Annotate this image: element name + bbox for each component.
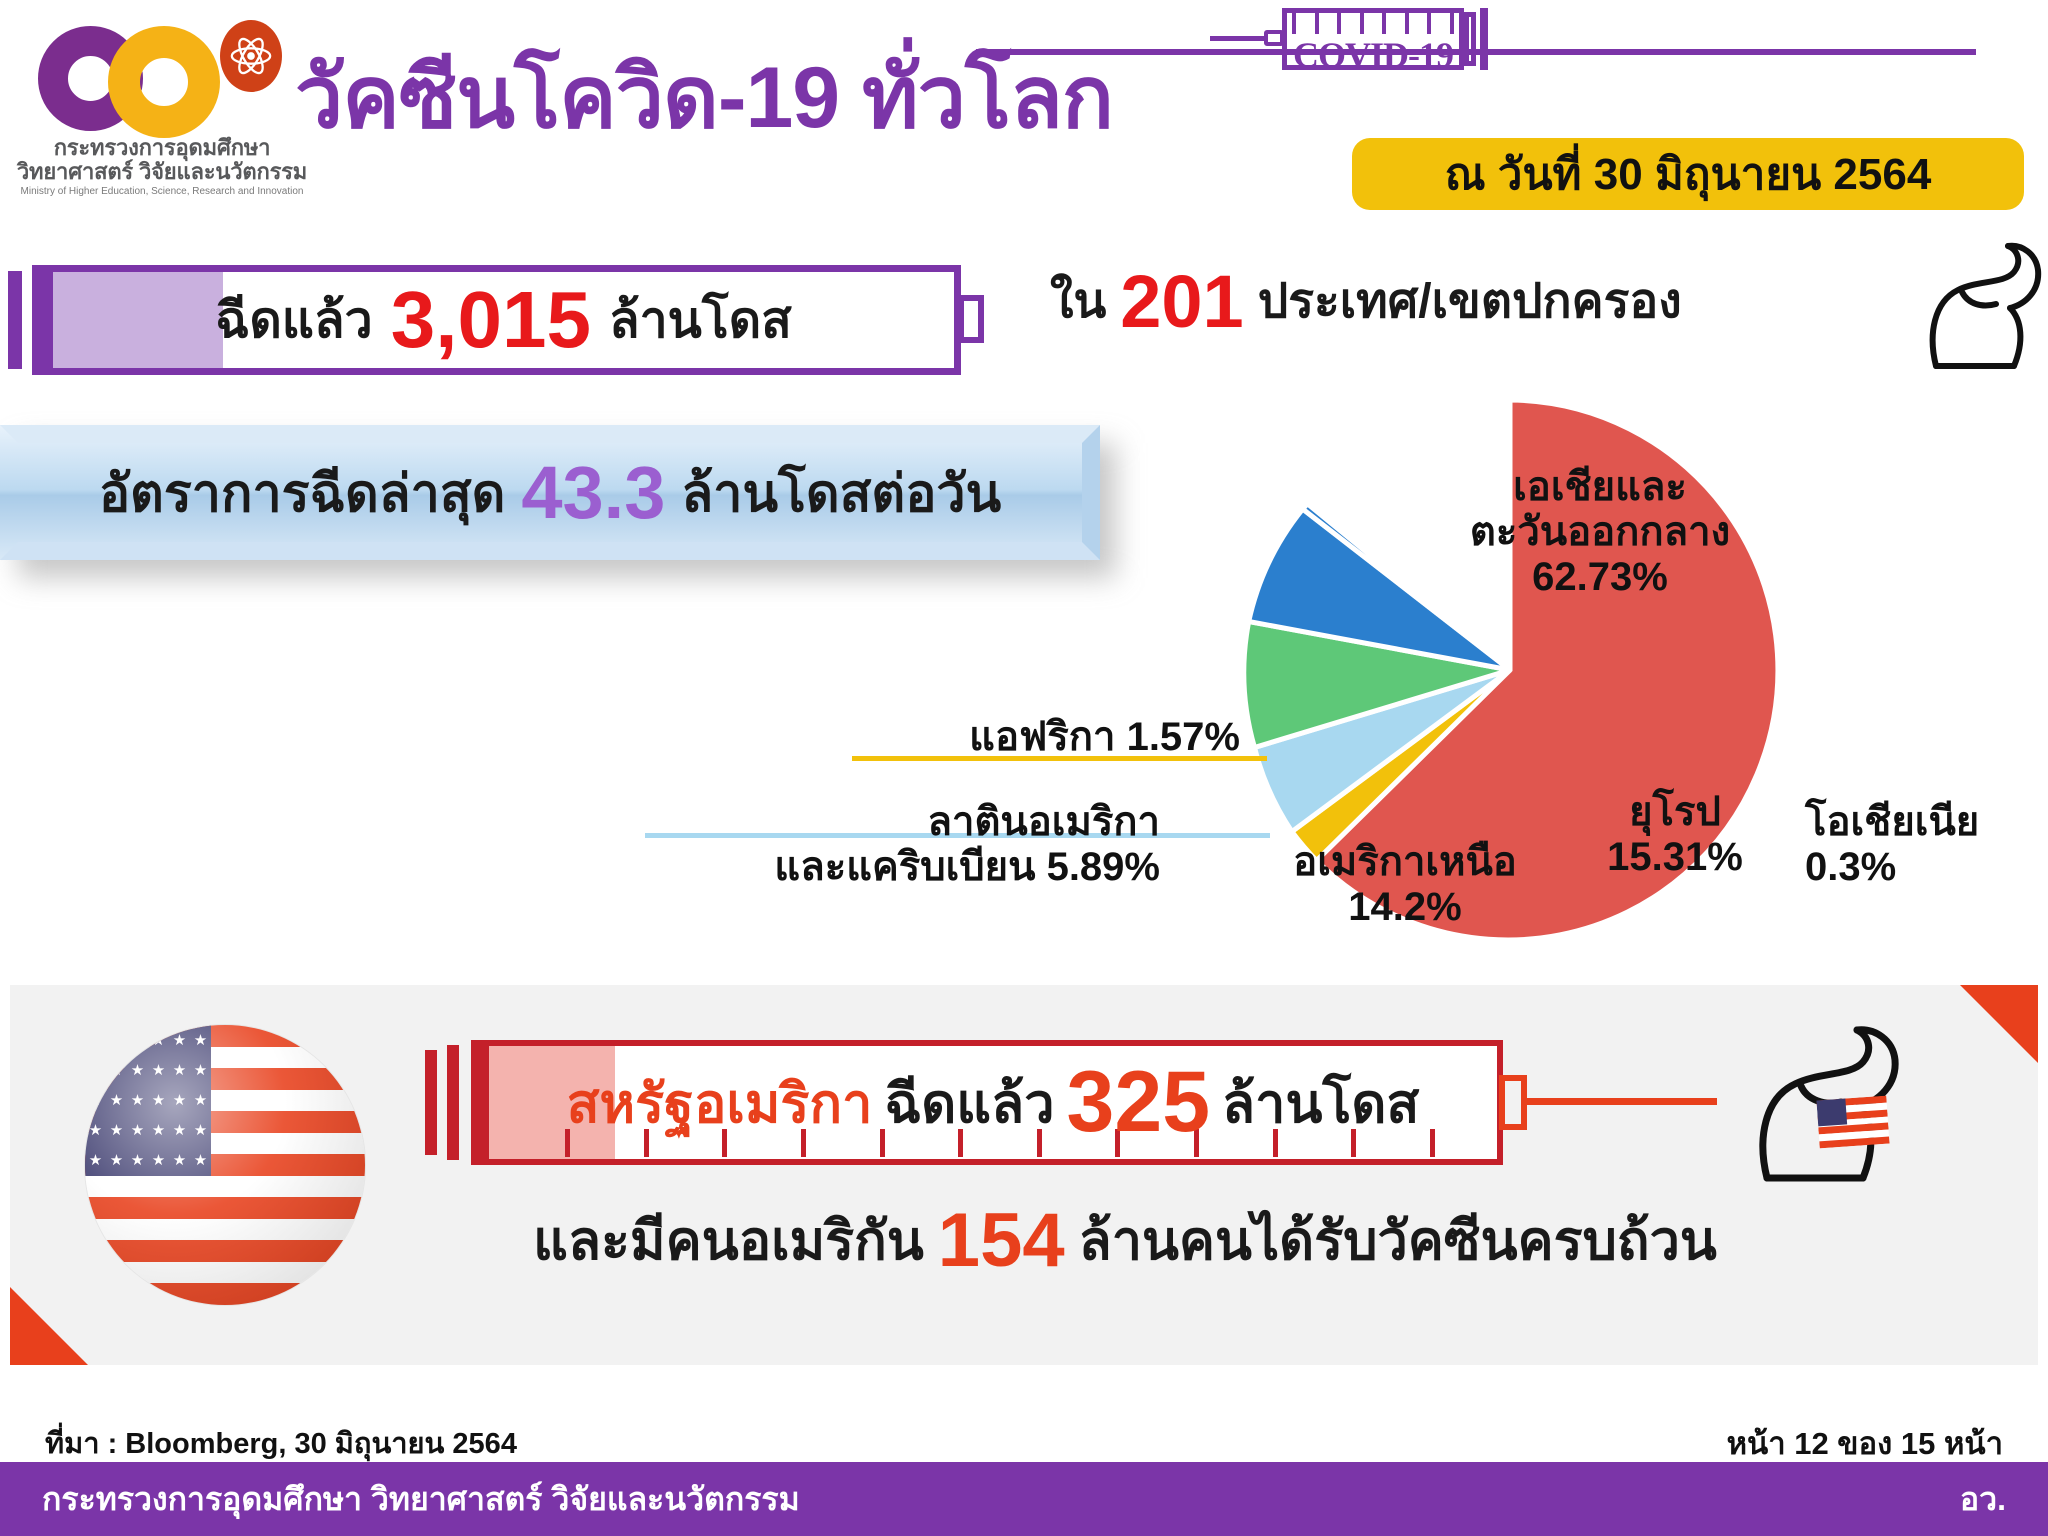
- covid-syringe-badge: COVID-19: [1258, 8, 1498, 70]
- arm-usa-flag-icon: [1816, 1096, 1889, 1149]
- pie-label-europe-name: ยุโรป: [1560, 790, 1790, 835]
- usa-flag-icon: ★★★★★★ ★★★★★★ ★★★★★★ ★★★★★★ ★★★★★★: [85, 1025, 365, 1305]
- pie-label-asia-line2: ตะวันออกกลาง: [1390, 510, 1810, 555]
- syringe-plunger-end-icon: [1480, 8, 1488, 70]
- pie-label-latam: ลาตินอเมริกา และแคริบเบียน 5.89%: [640, 800, 1160, 890]
- logo-ring-yellow: [108, 26, 220, 138]
- footer-ministry-label: กระทรวงการอุดมศึกษา วิทยาศาสตร์ วิจัยและ…: [42, 1474, 800, 1525]
- usa-syringe-plunger-end-icon: [425, 1050, 437, 1155]
- global-syringe-tip-icon: [958, 295, 984, 343]
- atom-icon: [220, 20, 282, 92]
- pie-label-oceania-name: โอเชียเนีย: [1805, 800, 2045, 845]
- pie-label-asia-line1: เอเชียและ: [1390, 465, 1810, 510]
- ministry-logo: กระทรวงการอุดมศึกษา วิทยาศาสตร์ วิจัยและ…: [12, 8, 312, 223]
- usa-doses-unit: ล้านโดส: [1222, 1060, 1419, 1146]
- pie-label-asia: เอเชียและ ตะวันออกกลาง 62.73%: [1390, 465, 1810, 599]
- pie-label-north-america-pct: 14.2%: [1255, 885, 1555, 930]
- date-badge-label: ณ วันที่ 30 มิถุนายน 2564: [1445, 139, 1932, 209]
- panel-corner-bottom-left: [10, 1287, 88, 1365]
- pie-label-north-america-name: อเมริกาเหนือ: [1255, 840, 1555, 885]
- usa-syringe-tip-icon: [1499, 1075, 1527, 1130]
- pie-label-latam-line2: และแคริบเบียน 5.89%: [640, 845, 1160, 890]
- usa-fully-value: 154: [938, 1197, 1065, 1284]
- syringe-tip-icon: [1264, 30, 1284, 46]
- usa-doses-text: สหรัฐอเมริกา ฉีดแล้ว 325 ล้านโดส: [483, 1040, 1503, 1165]
- usa-syringe-plunger-icon: [471, 1040, 483, 1165]
- infographic-canvas: กระทรวงการอุดมศึกษา วิทยาศาสตร์ วิจัยและ…: [0, 0, 2048, 1536]
- usa-fully-suffix: ล้านคนได้รับวัคซีนครบถ้วน: [1079, 1197, 1717, 1283]
- page-number: หน้า 12 ของ 15 หน้า: [1727, 1418, 2003, 1468]
- pie-label-africa: แอฟริกา 1.57%: [880, 715, 1240, 760]
- usa-doses-value: 325: [1067, 1053, 1211, 1152]
- usa-country-label: สหรัฐอเมริกา: [567, 1060, 873, 1146]
- logo-english-line: Ministry of Higher Education, Science, R…: [12, 186, 312, 197]
- rate-unit: ล้านโดสต่อวัน: [681, 451, 1001, 534]
- pie-label-latam-line1: ลาตินอเมริกา: [640, 800, 1160, 845]
- logo-60-mark: [30, 20, 260, 140]
- global-doses-label: ฉีดแล้ว: [215, 281, 372, 360]
- countries-value: 201: [1120, 259, 1243, 344]
- global-syringe-plunger-end-icon: [8, 271, 22, 369]
- countries-suffix: ประเทศ/เขตปกครอง: [1258, 263, 1682, 339]
- countries-text: ใน 201 ประเทศ/เขตปกครอง: [1050, 265, 1810, 337]
- global-doses-text: ฉีดแล้ว 3,015 ล้านโดส: [46, 265, 961, 375]
- usa-fully-prefix: และมีคนอเมริกัน: [533, 1197, 924, 1283]
- pie-label-oceania: โอเชียเนีย 0.3%: [1805, 800, 2045, 890]
- pie-label-europe-pct: 15.31%: [1560, 835, 1790, 880]
- global-syringe-needle-icon: [976, 49, 1976, 55]
- syringe-plunger-icon: [1464, 12, 1476, 66]
- rate-text: อัตราการฉีดล่าสุด 43.3 ล้านโดสต่อวัน: [0, 425, 1100, 560]
- usa-syringe-needle-icon: [1527, 1098, 1717, 1105]
- countries-prefix: ใน: [1050, 263, 1106, 339]
- global-doses-syringe: ฉีดแล้ว 3,015 ล้านโดส: [8, 265, 993, 375]
- global-doses-unit: ล้านโดส: [609, 281, 792, 360]
- global-doses-value: 3,015: [391, 274, 591, 366]
- rate-value: 43.3: [521, 450, 665, 535]
- global-syringe-plunger-icon: [32, 265, 46, 375]
- date-badge: ณ วันที่ 30 มิถุนายน 2564: [1352, 138, 2024, 210]
- flag-gloss-overlay: [85, 1025, 365, 1305]
- footer-abbrev-label: อว.: [1960, 1474, 2006, 1525]
- rate-label: อัตราการฉีดล่าสุด: [99, 451, 506, 534]
- usa-injected-label: ฉีดแล้ว: [884, 1060, 1054, 1146]
- pie-label-asia-pct: 62.73%: [1390, 555, 1810, 600]
- usa-fully-vaccinated-text: และมีคนอเมริกัน 154 ล้านคนได้รับวัคซีนคร…: [425, 1205, 1825, 1275]
- pie-label-europe: ยุโรป 15.31%: [1560, 790, 1790, 880]
- daily-rate-banner: อัตราการฉีดล่าสุด 43.3 ล้านโดสต่อวัน: [0, 425, 1110, 560]
- covid-badge-label: COVID-19: [1282, 34, 1464, 76]
- pie-label-oceania-pct: 0.3%: [1805, 845, 2045, 890]
- usa-doses-syringe: สหรัฐอเมริกา ฉีดแล้ว 325 ล้านโดส: [425, 1040, 1535, 1165]
- logo-thai-line-1: กระทรวงการอุดมศึกษา: [12, 136, 312, 161]
- logo-thai-line-2: วิทยาศาสตร์ วิจัยและนวัตกรรม: [12, 160, 312, 185]
- footer-bar: กระทรวงการอุดมศึกษา วิทยาศาสตร์ วิจัยและ…: [0, 1462, 2048, 1536]
- syringe-needle-icon: [1210, 36, 1266, 41]
- flexed-arm-icon: [1918, 238, 2048, 373]
- usa-syringe-plunger-mid-icon: [447, 1045, 459, 1160]
- syringe-ticks-icon: [1292, 12, 1454, 34]
- panel-corner-top-right: [1960, 985, 2038, 1063]
- pie-label-north-america: อเมริกาเหนือ 14.2%: [1255, 840, 1555, 930]
- source-note: ที่มา : Bloomberg, 30 มิถุนายน 2564: [45, 1420, 517, 1466]
